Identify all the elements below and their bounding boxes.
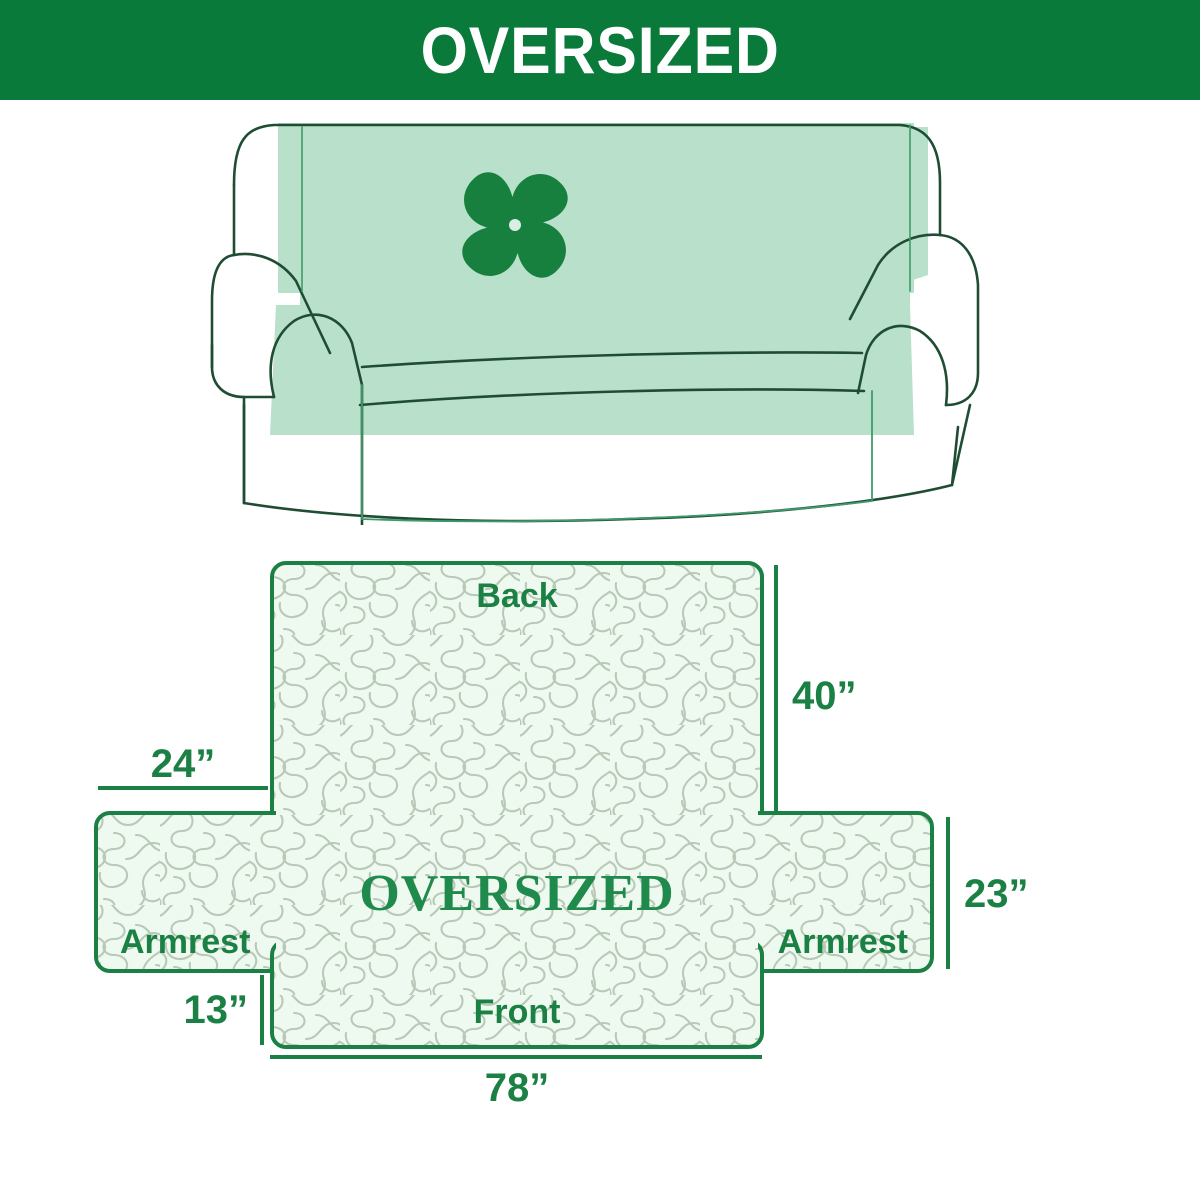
dim-label-24: 24”: [151, 742, 216, 786]
dim-label-23: 23”: [964, 872, 1029, 916]
label-back: Back: [476, 577, 557, 615]
page-title: OVERSIZED: [420, 17, 779, 83]
dim-label-40: 40”: [792, 674, 857, 718]
sofa-illustration-section: [0, 105, 1200, 530]
cover-panel-shape: [96, 563, 932, 1047]
label-armrest-right: Armrest: [778, 923, 908, 961]
dim-label-13: 13”: [184, 988, 249, 1032]
diagram-center-title: OVERSIZED: [359, 865, 674, 922]
flat-layout-diagram: Back Front Armrest Armrest OVERSIZED 40”…: [70, 545, 1130, 1145]
label-armrest-left: Armrest: [120, 923, 250, 961]
sofa-cover-panels: [270, 123, 914, 435]
sofa-illustration: [210, 105, 990, 525]
header-banner: OVERSIZED: [0, 0, 1200, 100]
label-front: Front: [474, 993, 561, 1031]
dim-label-78: 78”: [485, 1066, 550, 1110]
dimension-diagram-section: Back Front Armrest Armrest OVERSIZED 40”…: [0, 545, 1200, 1200]
product-size-chart-page: OVERSIZED: [0, 0, 1200, 1200]
join-back-center: [276, 809, 758, 821]
join-center-front: [276, 937, 758, 949]
